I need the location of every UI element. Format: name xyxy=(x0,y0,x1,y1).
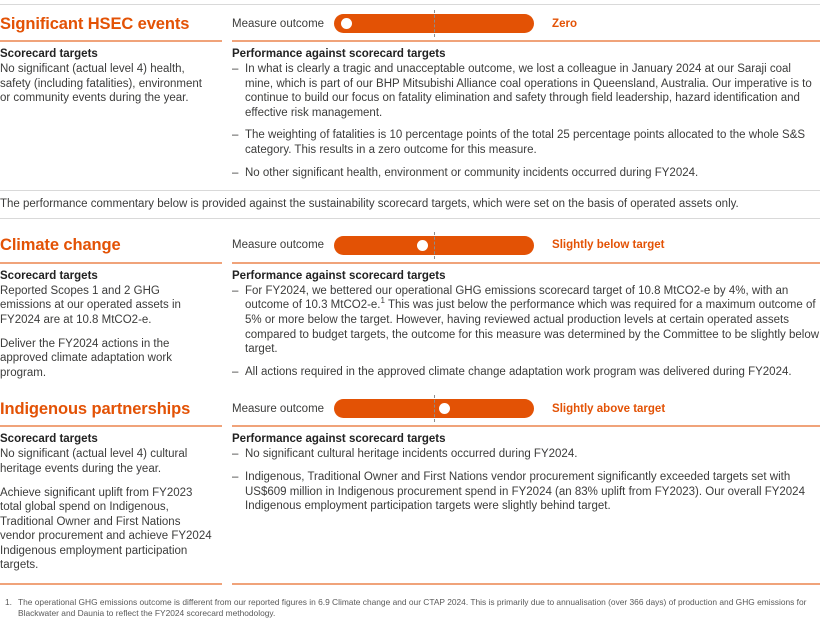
dash-bullet: – xyxy=(232,470,238,485)
measure-outcome-label: Measure outcome xyxy=(232,403,324,415)
dash-bullet: – xyxy=(232,447,238,462)
section-divider xyxy=(0,425,820,432)
divider-left xyxy=(0,583,222,585)
list-item: – For FY2024, we bettered our operationa… xyxy=(232,284,820,357)
scorecard-targets-heading: Scorecard targets xyxy=(0,269,212,283)
slider-target-line xyxy=(434,232,435,259)
list-item: –All actions required in the approved cl… xyxy=(232,365,820,380)
performance-heading: Performance against scorecard targets xyxy=(232,269,820,283)
performance-list: –In what is clearly a tragic and unaccep… xyxy=(232,62,820,180)
performance-column: Performance against scorecard targets –N… xyxy=(222,432,820,513)
scorecard-target-text: Achieve significant uplift from FY2023 t… xyxy=(0,486,212,574)
scorecard-targets-column: Scorecard targets Reported Scopes 1 and … xyxy=(0,269,222,381)
dash-bullet: – xyxy=(232,128,238,143)
footnote-divider xyxy=(0,583,820,590)
list-item: –No significant cultural heritage incide… xyxy=(232,447,820,462)
performance-list: – For FY2024, we bettered our operationa… xyxy=(232,284,820,380)
measure-outcome-slider[interactable] xyxy=(334,399,534,418)
slider-target-line xyxy=(434,10,435,37)
outcome-text: Slightly above target xyxy=(552,403,665,415)
scorecard-target-text: No significant (actual level 4) cultural… xyxy=(0,447,212,476)
section-header: Significant HSEC events Measure outcome … xyxy=(0,5,820,40)
list-item: –Indigenous, Traditional Owner and First… xyxy=(232,470,820,514)
slider-marker[interactable] xyxy=(417,240,428,251)
performance-heading: Performance against scorecard targets xyxy=(232,432,820,446)
scorecard-target-text: Deliver the FY2024 actions in the approv… xyxy=(0,337,212,381)
dash-bullet: – xyxy=(232,166,238,181)
section-title: Indigenous partnerships xyxy=(0,399,232,419)
divider-gap xyxy=(222,262,232,264)
divider-right xyxy=(232,262,820,264)
performance-heading: Performance against scorecard targets xyxy=(232,47,820,61)
list-item-text: No other significant health, environment… xyxy=(245,167,698,179)
slider-marker[interactable] xyxy=(439,403,450,414)
measure-outcome-group: Measure outcome Zero xyxy=(232,14,820,33)
measure-outcome-label: Measure outcome xyxy=(232,239,324,251)
section-title: Climate change xyxy=(0,235,232,255)
divider-gap xyxy=(222,425,232,427)
section-header: Climate change Measure outcome Slightly … xyxy=(0,227,820,262)
divider-gap xyxy=(222,40,232,42)
dash-bullet: – xyxy=(232,62,238,77)
section-header: Indigenous partnerships Measure outcome … xyxy=(0,390,820,425)
measure-outcome-slider[interactable] xyxy=(334,14,534,33)
section-body: Scorecard targets No significant (actual… xyxy=(0,432,820,573)
scorecard-targets-heading: Scorecard targets xyxy=(0,432,212,446)
section-climate-change: Climate change Measure outcome Slightly … xyxy=(0,227,820,381)
divider-left xyxy=(0,425,222,427)
outcome-text: Slightly below target xyxy=(552,239,664,251)
outcome-text: Zero xyxy=(552,18,577,30)
list-item-text: In what is clearly a tragic and unaccept… xyxy=(245,63,812,119)
scorecard-targets-column: Scorecard targets No significant (actual… xyxy=(0,432,222,573)
scorecard-targets-heading: Scorecard targets xyxy=(0,47,212,61)
measure-outcome-group: Measure outcome Slightly below target xyxy=(232,236,820,255)
slider-target-line xyxy=(434,395,435,422)
list-item: –In what is clearly a tragic and unaccep… xyxy=(232,62,820,120)
scorecard-target-text: No significant (actual level 4) health, … xyxy=(0,62,212,106)
footnote-text: The operational GHG emissions outcome is… xyxy=(18,597,820,619)
list-item: –The weighting of fatalities is 10 perce… xyxy=(232,128,820,157)
section-divider xyxy=(0,40,820,47)
scorecard-target-text: Reported Scopes 1 and 2 GHG emissions at… xyxy=(0,284,212,328)
list-item-text: No significant cultural heritage inciden… xyxy=(245,448,577,460)
measure-outcome-slider[interactable] xyxy=(334,236,534,255)
performance-list: –No significant cultural heritage incide… xyxy=(232,447,820,513)
divider-left xyxy=(0,262,222,264)
divider-right xyxy=(232,425,820,427)
scorecard-targets-column: Scorecard targets No significant (actual… xyxy=(0,47,222,106)
section-title: Significant HSEC events xyxy=(0,14,232,34)
divider-left xyxy=(0,40,222,42)
footnote: 1. The operational GHG emissions outcome… xyxy=(0,590,820,619)
list-item-text: Indigenous, Traditional Owner and First … xyxy=(245,471,805,512)
section-body: Scorecard targets No significant (actual… xyxy=(0,47,820,180)
measure-outcome-group: Measure outcome Slightly above target xyxy=(232,399,820,418)
list-item-text: All actions required in the approved cli… xyxy=(245,366,792,378)
scorecard-page: Significant HSEC events Measure outcome … xyxy=(0,4,820,550)
measure-outcome-label: Measure outcome xyxy=(232,18,324,30)
section-significant-hsec-events: Significant HSEC events Measure outcome … xyxy=(0,5,820,180)
list-item: –No other significant health, environmen… xyxy=(232,166,820,181)
list-item-text: The weighting of fatalities is 10 percen… xyxy=(245,129,805,156)
performance-column: Performance against scorecard targets –I… xyxy=(222,47,820,180)
section-body: Scorecard targets Reported Scopes 1 and … xyxy=(0,269,820,381)
commentary-banner: The performance commentary below is prov… xyxy=(0,197,820,212)
slider-marker[interactable] xyxy=(341,18,352,29)
section-divider xyxy=(0,262,820,269)
dash-bullet: – xyxy=(232,365,238,380)
footnote-number: 1. xyxy=(0,597,18,619)
divider-right xyxy=(232,583,820,585)
divider-right xyxy=(232,40,820,42)
performance-column: Performance against scorecard targets – … xyxy=(222,269,820,380)
divider-gap xyxy=(222,583,232,585)
dash-bullet: – xyxy=(232,284,238,299)
